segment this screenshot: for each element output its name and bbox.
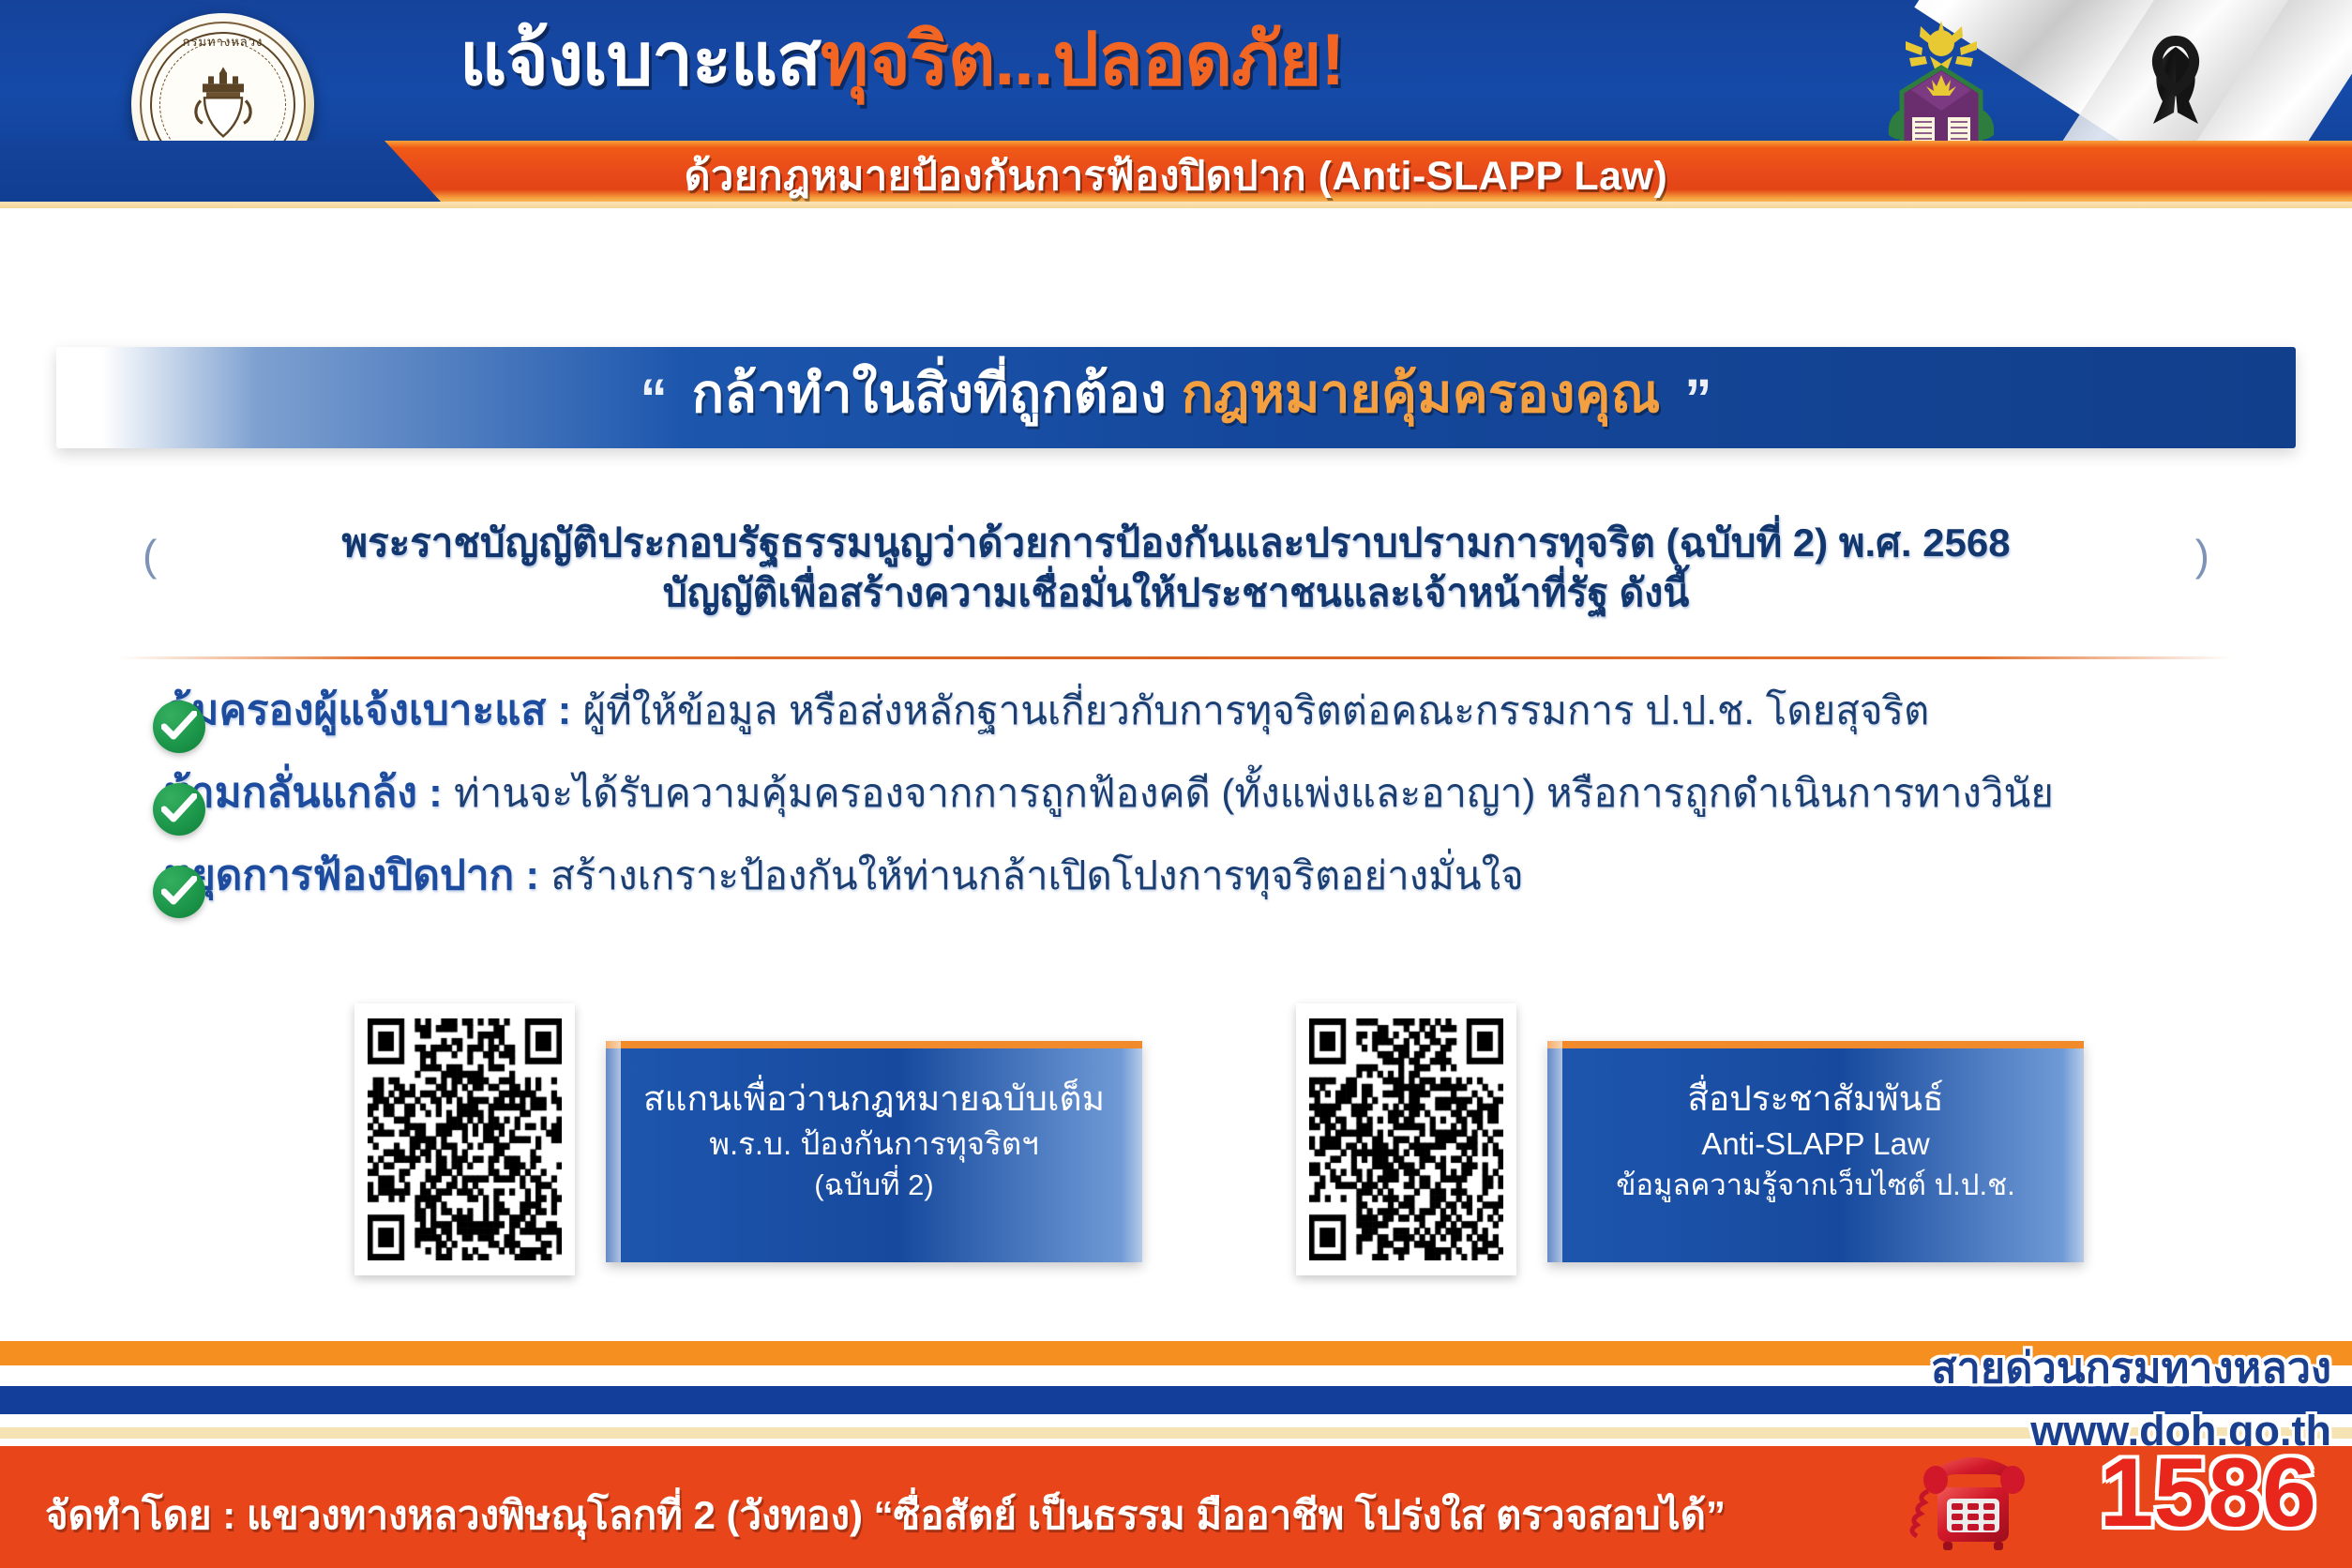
qr-caption-line-1: สแกนเพื่อว่านกฎหมายฉบับเต็ม <box>606 1075 1142 1123</box>
qr-code-icon[interactable] <box>354 1003 575 1275</box>
poster-root: กรมทางหลวง DEPARTMENT OF HIGHWAYS แจ้งเบ… <box>0 0 2352 1568</box>
list-item: หยุดการฟ้องปิดปาก : สร้างเกราะป้องกันให้… <box>0 854 2352 937</box>
qr-caption-line-1: สื่อประชาสัมพันธ์ <box>1547 1075 2084 1123</box>
telephone-icon <box>1902 1433 2033 1560</box>
list-item-text: ห้ามกลั่นแกล้ง : ท่านจะได้รับความคุ้มครอ… <box>164 772 2352 815</box>
quote-banner: “กล้าทำในสิ่งที่ถูกต้อง กฎหมายคุ้มครองคุ… <box>0 347 2352 455</box>
qr-caption-line-3: (ฉบับที่ 2) <box>606 1166 1142 1206</box>
list-item-text: หยุดการฟ้องปิดปาก : สร้างเกราะป้องกันให้… <box>164 854 2352 897</box>
list-item: คุ้มครองผู้แจ้งเบาะแส : ผู้ที่ให้ข้อมูล … <box>0 689 2352 772</box>
header-subtitle: ด้วยกฎหมายป้องกันการฟ้องปิดปาก (Anti-SLA… <box>0 143 2352 202</box>
green-check-icon <box>153 701 205 753</box>
qr-caption: สแกนเพื่อว่านกฎหมายฉบับเต็ม พ.ร.บ. ป้องก… <box>606 1075 1142 1205</box>
law-line-1: พระราชบัญญัติประกอบรัฐธรรมนูญว่าด้วยการป… <box>0 518 2352 568</box>
seal-top-label: กรมทางหลวง <box>131 32 314 52</box>
qr-caption-line-3: ข้อมูลความรู้จากเว็บไซต์ ป.ป.ช. <box>1547 1166 2084 1206</box>
qr-block-media[interactable]: สื่อประชาสัมพันธ์ Anti-SLAPP Law ข้อมูลค… <box>1296 1003 2084 1275</box>
qr-caption-line-2: พ.ร.บ. ป้องกันการทุจริตฯ <box>606 1123 1142 1166</box>
list-item-body: สร้างเกราะป้องกันให้ท่านกล้าเปิดโปงการทุ… <box>550 853 1523 897</box>
list-item-body: ท่านจะได้รับความคุ้มครองจากการถูกฟ้องคดี… <box>454 771 2054 815</box>
footer-credit: จัดทำโดย : แขวงทางหลวงพิษณุโลกที่ 2 (วัง… <box>45 1485 1726 1546</box>
black-ribbon-icon <box>2119 26 2232 139</box>
quote-close-mark: ” <box>1660 369 1736 430</box>
law-divider <box>120 656 2232 659</box>
hotline-label: สายด่วนกรมทางหลวง <box>1931 1334 2331 1401</box>
qr-block-full-law[interactable]: สแกนเพื่อว่านกฎหมายฉบับเต็ม พ.ร.บ. ป้องก… <box>354 1003 1142 1275</box>
qr-caption-panel: สแกนเพื่อว่านกฎหมายฉบับเต็ม พ.ร.บ. ป้องก… <box>606 1041 1142 1262</box>
header-title-orange: ทุจริต...ปลอดภัย! <box>821 18 1345 100</box>
hotline-number: 1586 <box>2100 1444 2316 1542</box>
law-description: พระราชบัญญัติประกอบรัฐธรรมนูญว่าด้วยการป… <box>0 518 2352 617</box>
quote-white-part: กล้าทำในสิ่งที่ถูกต้อง <box>692 364 1167 424</box>
quote-text: “กล้าทำในสิ่งที่ถูกต้อง กฎหมายคุ้มครองคุ… <box>0 368 2352 427</box>
list-item-head: หยุดการฟ้องปิดปาก : <box>164 852 550 898</box>
benefits-list: คุ้มครองผู้แจ้งเบาะแส : ผู้ที่ให้ข้อมูล … <box>0 689 2352 937</box>
header-underline <box>0 202 2352 208</box>
header-banner: กรมทางหลวง DEPARTMENT OF HIGHWAYS แจ้งเบ… <box>0 0 2352 202</box>
header-title-white: แจ้งเบาะแส <box>460 18 821 100</box>
seal-emblem-icon <box>180 65 266 142</box>
qr-code-canvas <box>368 1018 562 1260</box>
qr-caption-line-2: Anti-SLAPP Law <box>1547 1123 2084 1166</box>
list-item-head: คุ้มครองผู้แจ้งเบาะแส : <box>164 687 582 733</box>
green-check-icon <box>153 866 205 918</box>
quote-orange-part: กฎหมายคุ้มครองคุณ <box>1182 364 1661 424</box>
list-item-body: ผู้ที่ให้ข้อมูล หรือส่งหลักฐานเกี่ยวกับก… <box>582 688 1929 732</box>
list-item-head: ห้ามกลั่นแกล้ง : <box>164 770 454 816</box>
header-title: แจ้งเบาะแสทุจริต...ปลอดภัย! <box>460 23 1344 96</box>
list-item-text: คุ้มครองผู้แจ้งเบาะแส : ผู้ที่ให้ข้อมูล … <box>164 689 2352 732</box>
qr-code-canvas <box>1309 1018 1503 1260</box>
qr-caption: สื่อประชาสัมพันธ์ Anti-SLAPP Law ข้อมูลค… <box>1547 1075 2084 1205</box>
quote-open-mark: “ <box>616 369 692 430</box>
law-line-2: บัญญัติเพื่อสร้างความเชื่อมั่นให้ประชาชน… <box>0 568 2352 617</box>
qr-caption-panel: สื่อประชาสัมพันธ์ Anti-SLAPP Law ข้อมูลค… <box>1547 1041 2084 1262</box>
qr-section: สแกนเพื่อว่านกฎหมายฉบับเต็ม พ.ร.บ. ป้องก… <box>0 1003 2352 1285</box>
green-check-icon <box>153 783 205 836</box>
list-item: ห้ามกลั่นแกล้ง : ท่านจะได้รับความคุ้มครอ… <box>0 772 2352 854</box>
qr-code-icon[interactable] <box>1296 1003 1516 1275</box>
